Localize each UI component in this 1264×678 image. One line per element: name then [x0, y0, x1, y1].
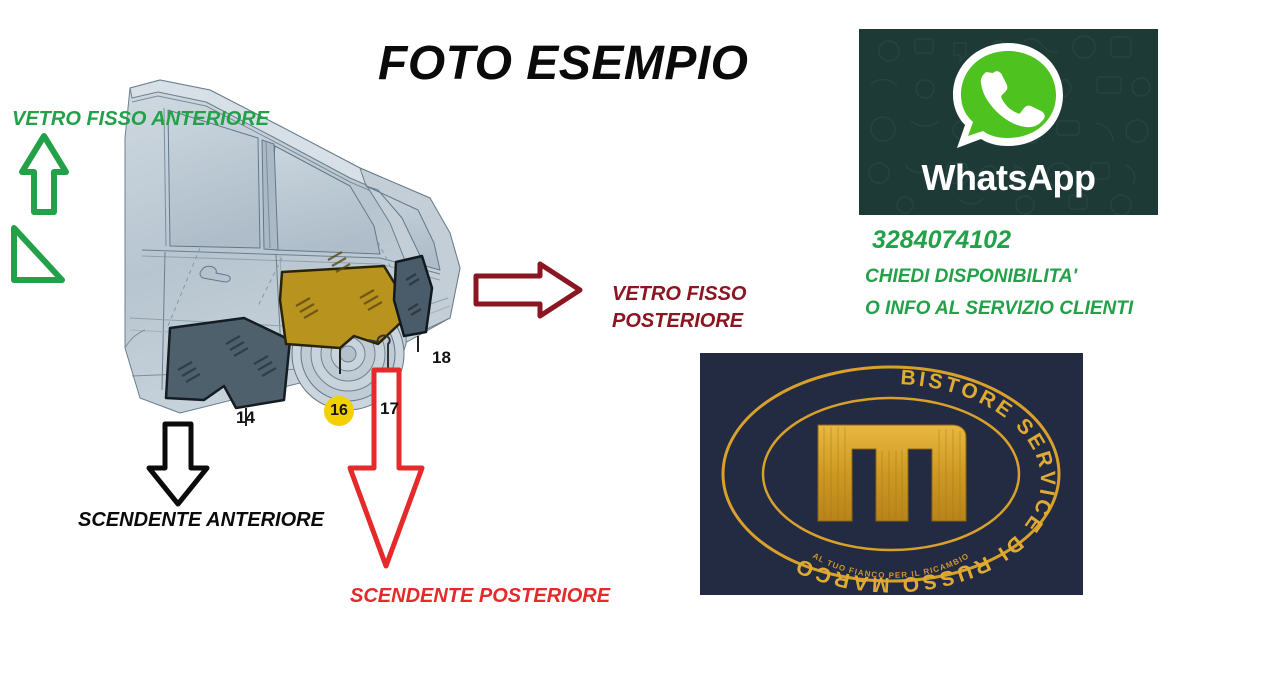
phone-number[interactable]: 3284074102 [872, 226, 1011, 255]
contact-line-1: CHIEDI DISPONIBILITA' [865, 266, 1077, 288]
label-vetro-fisso-posteriore-line2: POSTERIORE [612, 308, 746, 335]
label-vetro-fisso-anteriore: VETRO FISSO ANTERIORE [12, 108, 269, 131]
part-number-14: 14 [236, 408, 255, 428]
glass-part-18 [394, 256, 432, 352]
example-photo-canvas: 14 16 17 18 FOTO ESEMPIO VETRO FISSO ANT… [0, 0, 1264, 678]
page-title: FOTO ESEMPIO [378, 36, 749, 91]
label-scendente-anteriore: SCENDENTE ANTERIORE [78, 509, 324, 532]
contact-line-2: O INFO AL SERVIZIO CLIENTI [865, 298, 1133, 320]
glass-part-16 [280, 252, 412, 374]
whatsapp-logo-icon [947, 39, 1070, 157]
part-number-18: 18 [432, 348, 451, 368]
label-vetro-fisso-posteriore: VETRO FISSO POSTERIORE [612, 281, 746, 335]
label-scendente-posteriore: SCENDENTE POSTERIORE [350, 585, 610, 608]
shop-logo-monogram [818, 425, 966, 521]
part-number-16-label: 16 [330, 402, 348, 420]
exploded-glass-parts [140, 240, 500, 440]
whatsapp-wordmark: WhatsApp [859, 157, 1158, 199]
whatsapp-banner[interactable]: WhatsApp [859, 29, 1158, 215]
glass-part-14 [166, 318, 290, 426]
shop-logo: MRICAMBISTORE SERVICE DI RUSSO MARCO AL … [700, 353, 1083, 595]
part-number-17: 17 [380, 399, 399, 419]
shop-logo-graphic: MRICAMBISTORE SERVICE DI RUSSO MARCO AL … [700, 353, 1083, 595]
label-vetro-fisso-posteriore-line1: VETRO FISSO [612, 281, 746, 308]
part-number-badge-16: 16 [324, 396, 354, 426]
